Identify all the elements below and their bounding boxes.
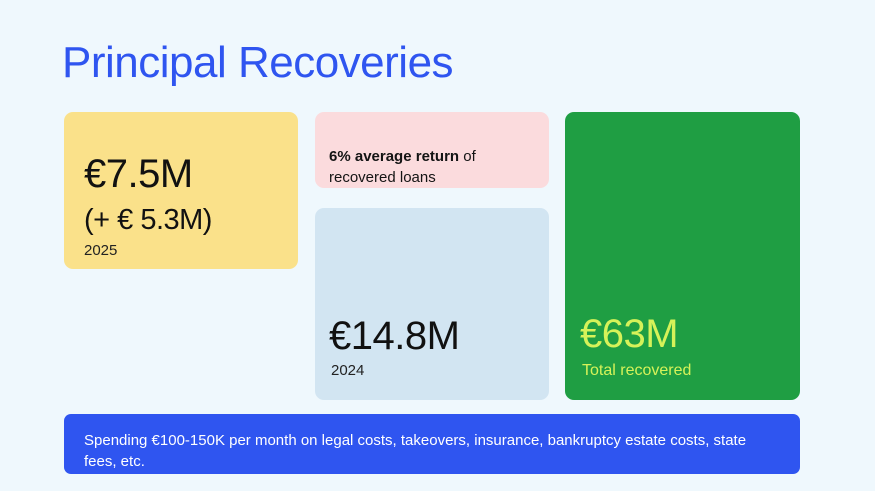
spending-banner: Spending €100-150K per month on legal co… bbox=[64, 414, 800, 474]
page-title: Principal Recoveries bbox=[62, 36, 453, 90]
stat-card-2025: €7.5M (+ € 5.3M) 2025 bbox=[64, 112, 298, 269]
average-return-note: 6% average return of recovered loans bbox=[329, 146, 537, 188]
stat-card-2024-value: €14.8M bbox=[329, 314, 459, 358]
stat-card-2025-delta: (+ € 5.3M) bbox=[84, 204, 212, 237]
stat-card-total-recovered: €63M Total recovered bbox=[565, 112, 800, 400]
stat-card-2025-year: 2025 bbox=[84, 242, 117, 260]
stat-card-2024-year: 2024 bbox=[331, 362, 364, 380]
slide-root: Principal Recoveries €7.5M (+ € 5.3M) 20… bbox=[0, 0, 875, 491]
stat-card-total-label: Total recovered bbox=[582, 361, 691, 380]
average-return-highlight: 6% average return bbox=[329, 148, 459, 165]
stat-card-total-value: €63M bbox=[580, 312, 678, 356]
stat-card-2025-value: €7.5M bbox=[84, 152, 193, 196]
spending-banner-text: Spending €100-150K per month on legal co… bbox=[84, 430, 782, 472]
stat-card-2024: €14.8M 2024 bbox=[315, 208, 549, 400]
stat-card-average-return: 6% average return of recovered loans bbox=[315, 112, 549, 188]
